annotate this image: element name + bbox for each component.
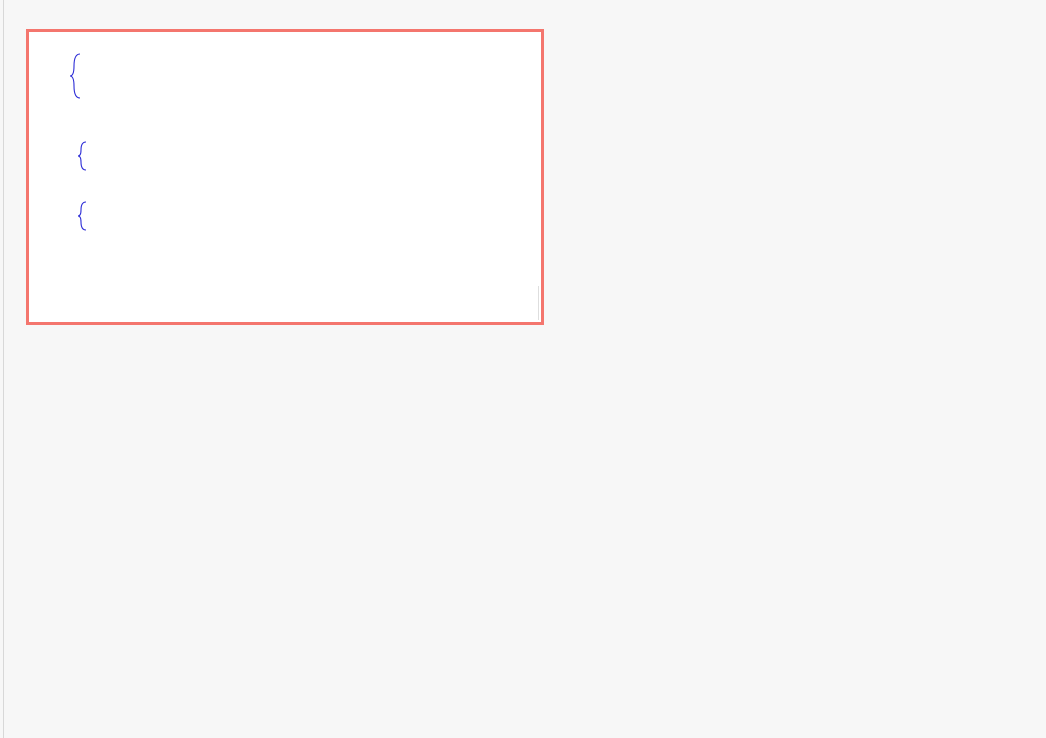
page-left-rule	[3, 0, 4, 738]
group-label-inputs	[70, 54, 80, 98]
watermark-rule	[538, 286, 539, 320]
group-label-ref	[78, 202, 86, 230]
timing-diagram-svg	[29, 32, 535, 316]
timing-diagram	[26, 29, 544, 325]
group-label-yours	[78, 142, 86, 170]
page-title	[18, 0, 1028, 3]
